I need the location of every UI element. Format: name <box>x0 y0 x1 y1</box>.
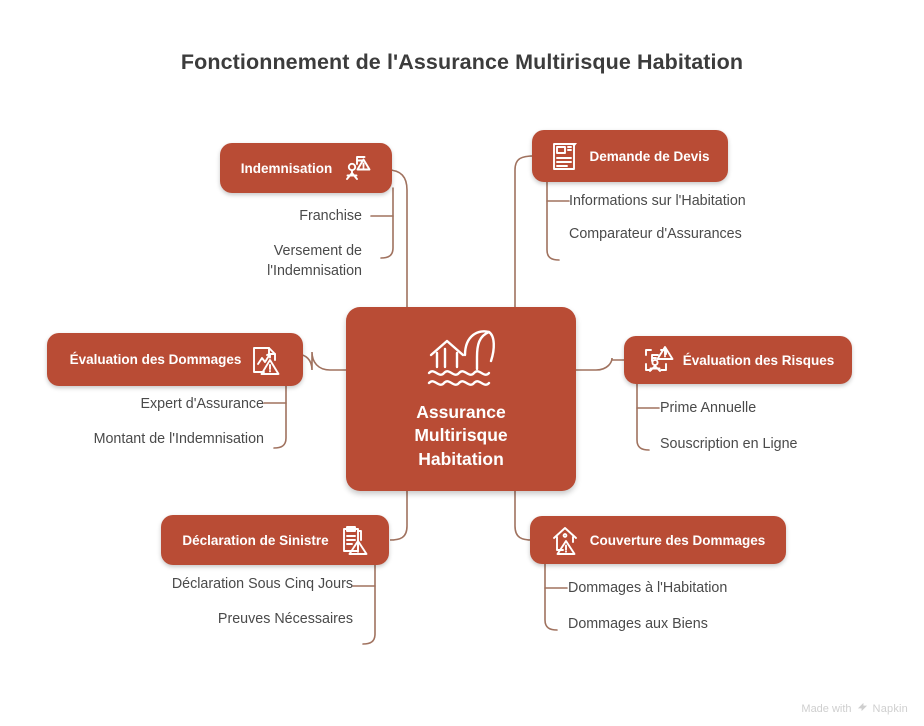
center-label-line1: Assurance <box>416 402 506 422</box>
diagram-canvas: Fonctionnement de l'Assurance Multirisqu… <box>0 0 924 726</box>
sub-items-demande-de-devis: Informations sur l'Habitation Comparateu… <box>569 192 749 245</box>
list-item: Preuves Nécessaires <box>170 610 353 629</box>
napkin-logo-icon <box>857 702 868 716</box>
list-item: Versement de l'Indemnisation <box>180 242 362 281</box>
watermark-brand: Napkin <box>873 703 908 715</box>
node-evaluation-des-dommages-label: Évaluation des Dommages <box>70 352 242 367</box>
node-demande-de-devis[interactable]: Demande de Devis <box>532 130 728 182</box>
node-couverture-des-dommages[interactable]: Couverture des Dommages <box>530 516 786 564</box>
node-declaration-de-sinistre[interactable]: Déclaration de Sinistre <box>161 515 389 565</box>
list-item: Souscription en Ligne <box>660 435 860 454</box>
list-item: Déclaration Sous Cinq Jours <box>170 575 353 594</box>
flood-house-wave-icon <box>423 327 499 389</box>
center-label-line3: Habitation <box>418 449 504 469</box>
list-item: Expert d'Assurance <box>76 395 264 414</box>
page-title: Fonctionnement de l'Assurance Multirisqu… <box>0 50 924 75</box>
document-form-icon <box>550 140 580 172</box>
list-item: Dommages à l'Habitation <box>568 579 788 598</box>
sub-items-declaration-de-sinistre: Déclaration Sous Cinq Jours Preuves Néce… <box>170 575 353 630</box>
house-warning-icon <box>551 525 581 555</box>
list-item: Prime Annuelle <box>660 399 860 418</box>
node-evaluation-des-risques-label: Évaluation des Risques <box>683 353 835 368</box>
sub-items-indemnisation: Franchise Versement de l'Indemnisation <box>180 207 362 281</box>
center-label-line2: Multirisque <box>414 425 507 445</box>
watermark: Made with Napkin <box>801 702 908 716</box>
node-indemnisation-label: Indemnisation <box>241 161 333 176</box>
node-demande-de-devis-label: Demande de Devis <box>589 149 709 164</box>
sub-items-couverture-des-dommages: Dommages à l'Habitation Dommages aux Bie… <box>568 579 788 635</box>
sub-items-evaluation-des-dommages: Expert d'Assurance Montant de l'Indemnis… <box>76 395 264 450</box>
node-indemnisation[interactable]: Indemnisation <box>220 143 392 193</box>
center-node-label: Assurance Multirisque Habitation <box>414 401 507 470</box>
node-declaration-de-sinistre-label: Déclaration de Sinistre <box>182 533 328 548</box>
node-evaluation-des-dommages[interactable]: Évaluation des Dommages <box>47 333 303 386</box>
center-node[interactable]: Assurance Multirisque Habitation <box>346 307 576 491</box>
person-warning-icon <box>341 154 371 182</box>
list-item: Dommages aux Biens <box>568 615 788 634</box>
list-item: Montant de l'Indemnisation <box>76 430 264 449</box>
list-item: Franchise <box>180 207 362 226</box>
chart-document-warning-icon <box>250 344 280 376</box>
clipboard-warning-icon <box>338 524 368 556</box>
node-couverture-des-dommages-label: Couverture des Dommages <box>590 533 766 548</box>
watermark-prefix: Made with <box>801 703 851 715</box>
scan-person-warning-icon <box>642 345 674 375</box>
list-item: Informations sur l'Habitation <box>569 192 749 211</box>
list-item: Comparateur d'Assurances <box>569 225 749 244</box>
node-evaluation-des-risques[interactable]: Évaluation des Risques <box>624 336 852 384</box>
sub-items-evaluation-des-risques: Prime Annuelle Souscription en Ligne <box>660 399 860 455</box>
